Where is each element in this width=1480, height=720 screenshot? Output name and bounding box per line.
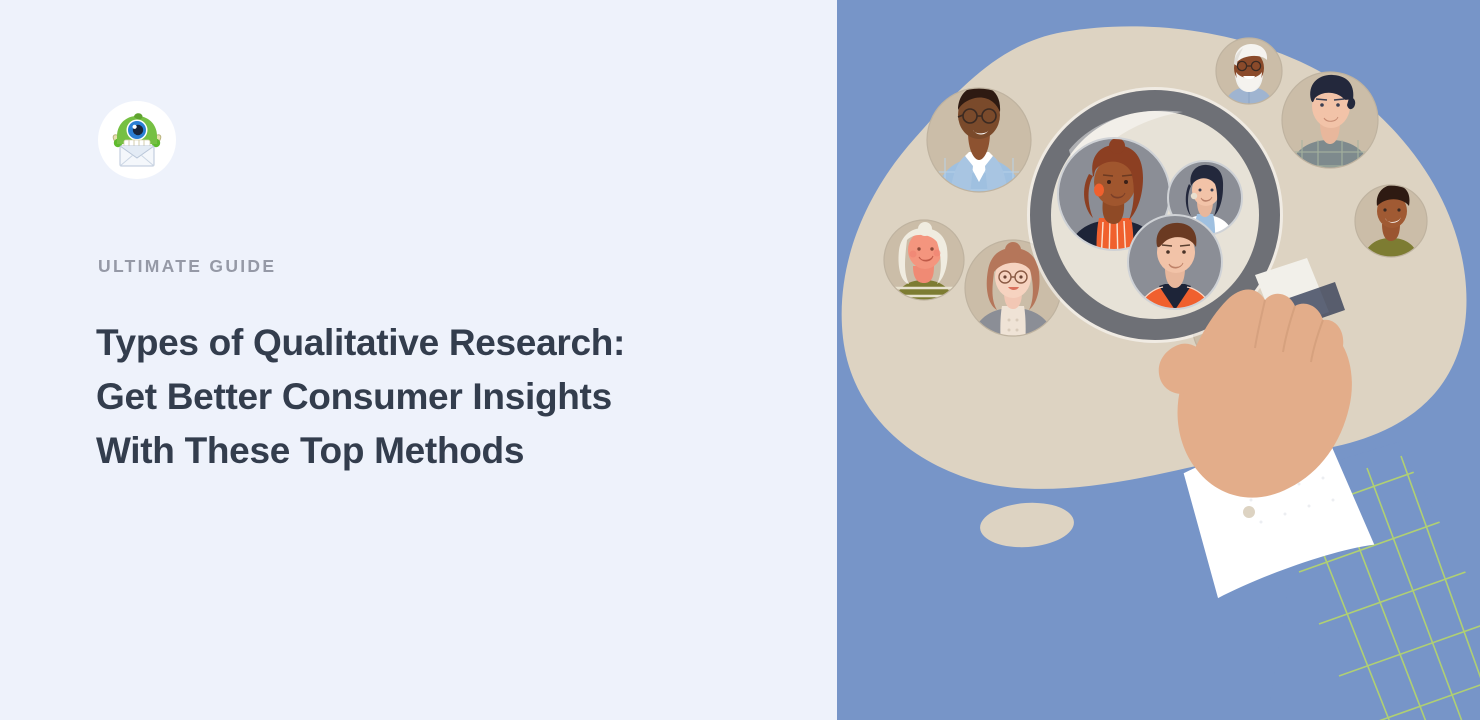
page-title-line-1: Types of Qualitative Research: [96, 316, 796, 370]
illustration-panel [837, 0, 1480, 720]
page-title-line-2: Get Better Consumer Insights [96, 370, 796, 424]
consumer-research-illustration [837, 0, 1480, 720]
optinmonster-logo[interactable] [98, 101, 176, 179]
left-content-panel: ULTIMATE GUIDE Types of Qualitative Rese… [0, 0, 837, 720]
hero-banner: ULTIMATE GUIDE Types of Qualitative Rese… [0, 0, 1480, 720]
eyebrow-label: ULTIMATE GUIDE [98, 258, 276, 276]
page-title-line-3: With These Top Methods [96, 424, 796, 478]
page-title: Types of Qualitative Research: Get Bette… [96, 316, 796, 478]
cuff-button [1243, 506, 1255, 518]
monster-envelope-icon [107, 110, 167, 170]
